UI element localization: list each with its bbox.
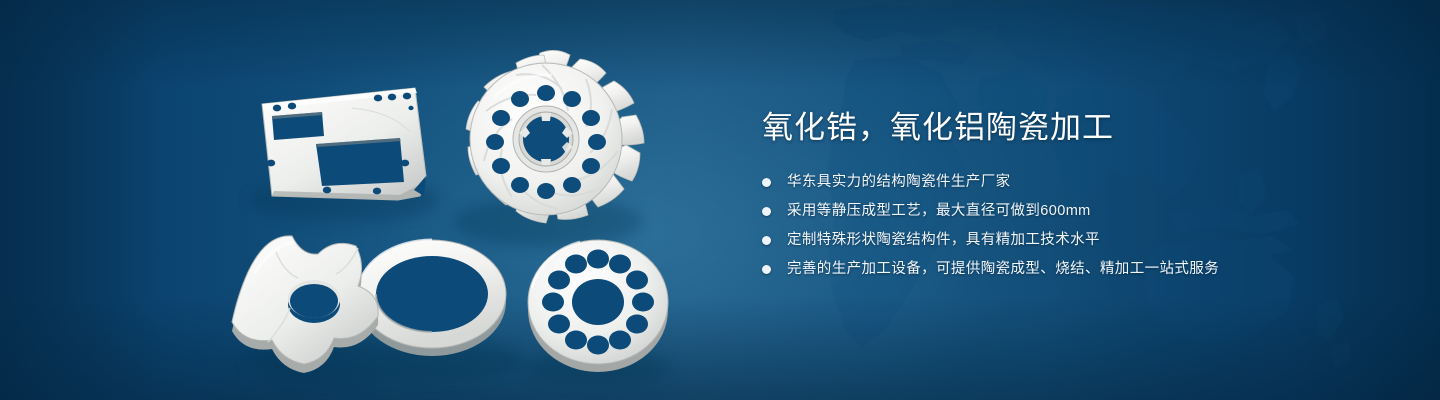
promo-banner: 氧化锆，氧化铝陶瓷加工 华东具实力的结构陶瓷件生产厂家 采用等静压成型工艺，最大…	[0, 0, 1440, 400]
list-item: 定制特殊形状陶瓷结构件，具有精加工技术水平	[762, 230, 1362, 251]
list-item: 华东具实力的结构陶瓷件生产厂家	[762, 172, 1362, 193]
feature-text: 采用等静压成型工艺，最大直径可做到600mm	[787, 201, 1091, 222]
feature-list: 华东具实力的结构陶瓷件生产厂家 采用等静压成型工艺，最大直径可做到600mm 定…	[762, 172, 1362, 280]
list-item: 完善的生产加工设备，可提供陶瓷成型、烧结、精加工一站式服务	[762, 259, 1362, 280]
page-title: 氧化锆，氧化铝陶瓷加工	[762, 106, 1362, 150]
bullet-dot-icon	[762, 178, 771, 187]
feature-text: 完善的生产加工设备，可提供陶瓷成型、烧结、精加工一站式服务	[787, 259, 1219, 280]
bullet-dot-icon	[762, 207, 771, 216]
ceramic-parts-artwork	[0, 0, 720, 400]
list-item: 采用等静压成型工艺，最大直径可做到600mm	[762, 201, 1362, 222]
feature-text: 华东具实力的结构陶瓷件生产厂家	[787, 172, 1011, 193]
feature-text: 定制特殊形状陶瓷结构件，具有精加工技术水平	[787, 230, 1100, 251]
banner-copy: 氧化锆，氧化铝陶瓷加工 华东具实力的结构陶瓷件生产厂家 采用等静压成型工艺，最大…	[762, 106, 1362, 280]
bullet-dot-icon	[762, 236, 771, 245]
bullet-dot-icon	[762, 265, 771, 274]
